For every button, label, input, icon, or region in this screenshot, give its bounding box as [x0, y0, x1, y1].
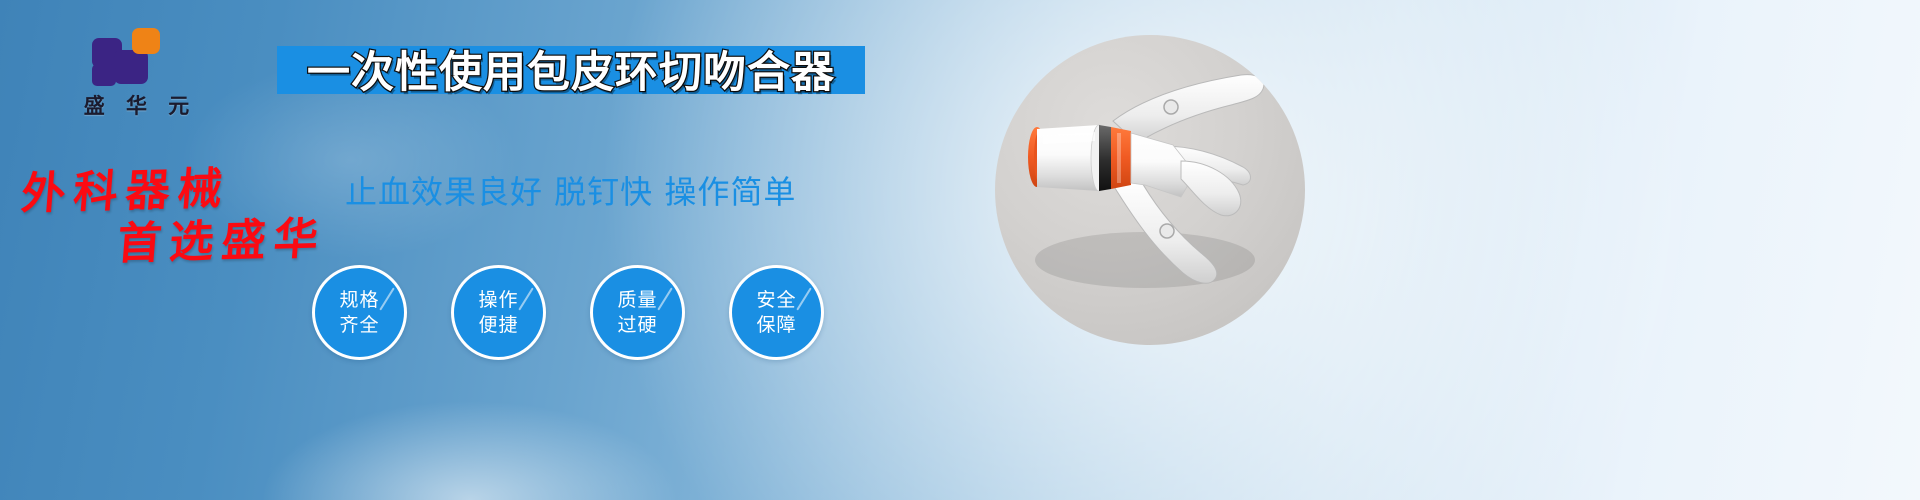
logo-block-accent	[132, 28, 160, 54]
feature-3-line-2: 过硬	[617, 313, 657, 338]
background-glow-bottom-left	[260, 400, 680, 500]
logo-block-3	[92, 64, 116, 86]
promo-banner: 盛 华 元 一次性使用包皮环切吻合器 外科器械 首选盛华 止血效果良好 脱钉快 …	[0, 0, 1920, 500]
product-photo	[995, 35, 1305, 345]
feature-circle-3[interactable]: 质量 过硬	[590, 265, 685, 360]
feature-circle-list: 规格 齐全 操作 便捷 质量 过硬 安全 保障	[312, 265, 824, 360]
stapler-device-illustration	[995, 35, 1305, 345]
subtitle: 止血效果良好 脱钉快 操作简单	[345, 167, 796, 213]
feature-4-line-2: 保障	[756, 313, 796, 338]
feature-circle-2[interactable]: 操作 便捷	[451, 265, 546, 360]
brand-logo[interactable]: 盛 华 元	[60, 28, 220, 120]
feature-4-line-1: 安全	[756, 288, 796, 313]
feature-3-line-1: 质量	[617, 288, 657, 313]
feature-1-line-1: 规格	[339, 288, 379, 313]
feature-2-line-1: 操作	[478, 288, 518, 313]
page-title: 一次性使用包皮环切吻合器	[277, 40, 865, 98]
feature-1-line-2: 齐全	[339, 313, 379, 338]
logo-blocks-icon	[92, 28, 168, 86]
slogan-line-2: 首选盛华	[115, 202, 329, 271]
feature-circle-4[interactable]: 安全 保障	[729, 265, 824, 360]
feature-2-line-2: 便捷	[478, 313, 518, 338]
logo-block-2	[114, 50, 148, 84]
brand-name: 盛 华 元	[60, 90, 220, 120]
feature-circle-1[interactable]: 规格 齐全	[312, 265, 407, 360]
